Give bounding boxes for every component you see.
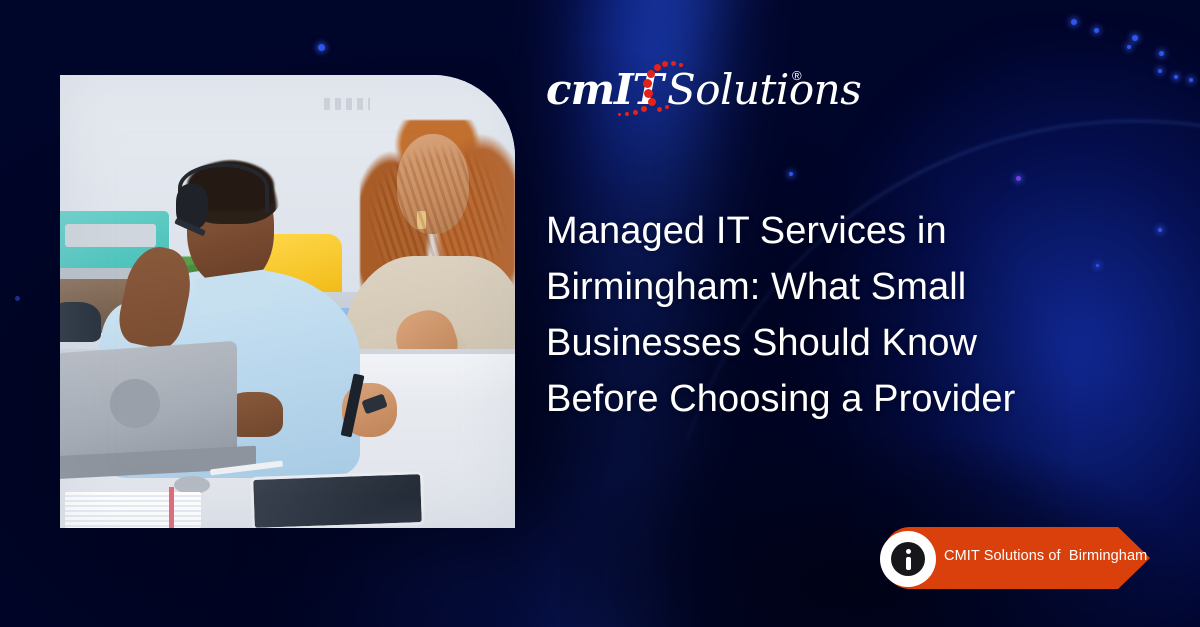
info-icon-dot: [906, 549, 911, 554]
page-title: Managed IT Services in Birmingham: What …: [546, 203, 1086, 427]
photo-overlay: [60, 75, 515, 528]
info-icon-stem: [906, 557, 911, 570]
social-share-banner: cmIT Solutions ® Managed IT Services in …: [0, 0, 1200, 627]
logo-wordmark-solutions: Solutions: [667, 66, 861, 114]
photo-scene: [60, 75, 515, 528]
location-badge-label: CMIT Solutions of Birmingham: [944, 548, 1154, 564]
registered-trademark-icon: ®: [792, 68, 802, 83]
hero-photo: [60, 75, 515, 528]
cmit-solutions-logo[interactable]: cmIT Solutions ®: [546, 62, 826, 118]
